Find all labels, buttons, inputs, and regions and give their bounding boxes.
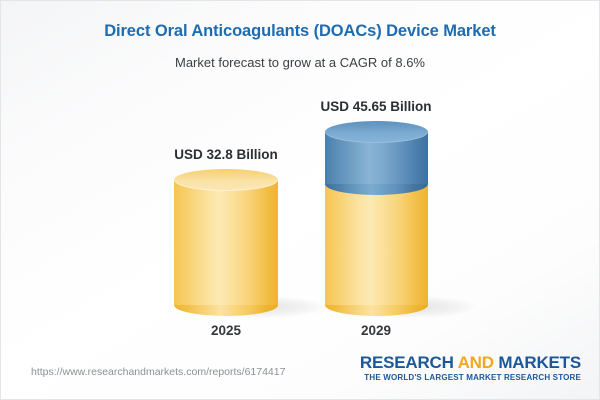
brand-word-research: RESEARCH	[360, 353, 458, 372]
brand-tagline: THE WORLD'S LARGEST MARKET RESEARCH STOR…	[360, 373, 581, 382]
bar-body-lower-2029	[325, 184, 428, 305]
value-label-2025: USD 32.8 Billion	[116, 147, 336, 162]
source-url-link[interactable]: https://www.researchandmarkets.com/repor…	[31, 366, 285, 378]
chart-plot-area: USD 32.8 Billion 2025 USD 45.65 Billion	[1, 1, 600, 349]
bar-cylinder-2025[interactable]	[174, 169, 278, 308]
chart-canvas: Direct Oral Anticoagulants (DOACs) Devic…	[0, 0, 600, 400]
bar-body-2025	[174, 180, 278, 305]
category-label-2029: 2029	[266, 323, 486, 338]
brand-logo[interactable]: RESEARCH AND MARKETS THE WORLD'S LARGEST…	[360, 354, 581, 382]
brand-wordmark: RESEARCH AND MARKETS	[360, 354, 581, 372]
value-label-2029: USD 45.65 Billion	[266, 99, 486, 114]
bar-cylinder-top-2025	[174, 169, 278, 191]
brand-word-markets: MARKETS	[494, 353, 581, 372]
brand-word-and: AND	[458, 353, 494, 372]
bar-cylinder-top-2029	[325, 121, 428, 143]
bar-cylinder-2029[interactable]	[325, 121, 428, 308]
chart-footer: https://www.researchandmarkets.com/repor…	[1, 349, 599, 399]
